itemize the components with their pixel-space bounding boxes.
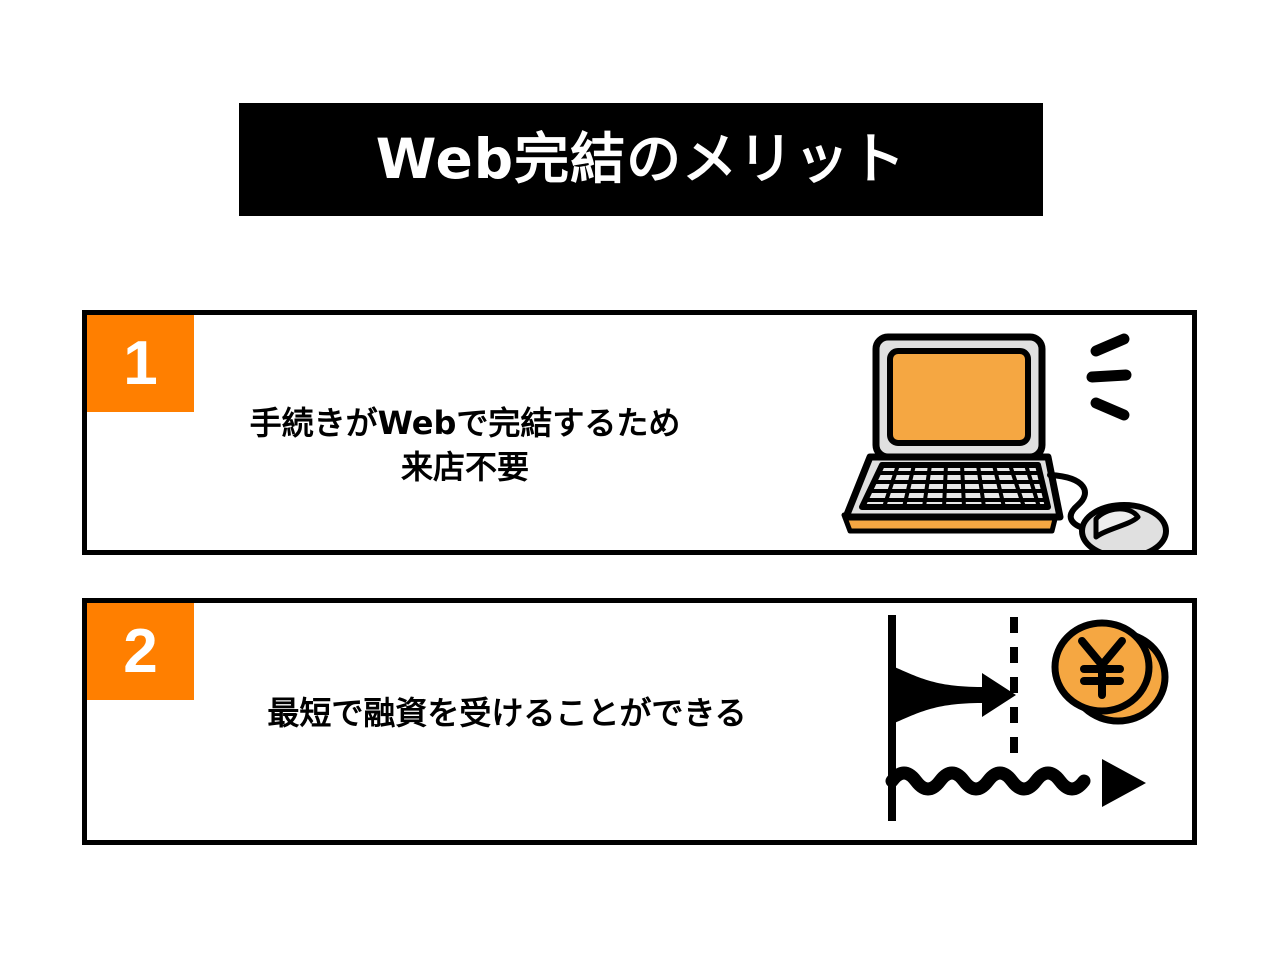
laptop-with-mouse-icon xyxy=(834,325,1184,550)
page-title: Web完結のメリット xyxy=(376,132,906,187)
card-1-number-badge: 1 xyxy=(87,315,194,412)
card-2-text: 最短で融資を受けることができる xyxy=(187,691,827,735)
card-1-text: 手続きがWebで完結するため 来店不要 xyxy=(205,401,725,489)
fast-arrow xyxy=(890,665,1016,725)
card-1-number: 1 xyxy=(123,333,157,395)
card-2-number-badge: 2 xyxy=(87,603,194,700)
wavy-path xyxy=(892,773,1084,789)
benefit-card-1: 1 手続きがWebで完結するため 来店不要 xyxy=(82,310,1197,555)
page-title-banner: Web完結のメリット xyxy=(239,103,1043,216)
benefit-card-2: 2 最短で融資を受けることができる xyxy=(82,598,1197,845)
wavy-arrowhead xyxy=(1102,759,1146,807)
fast-funding-yen-coins-icon xyxy=(874,607,1184,832)
card-2-number: 2 xyxy=(123,621,157,683)
